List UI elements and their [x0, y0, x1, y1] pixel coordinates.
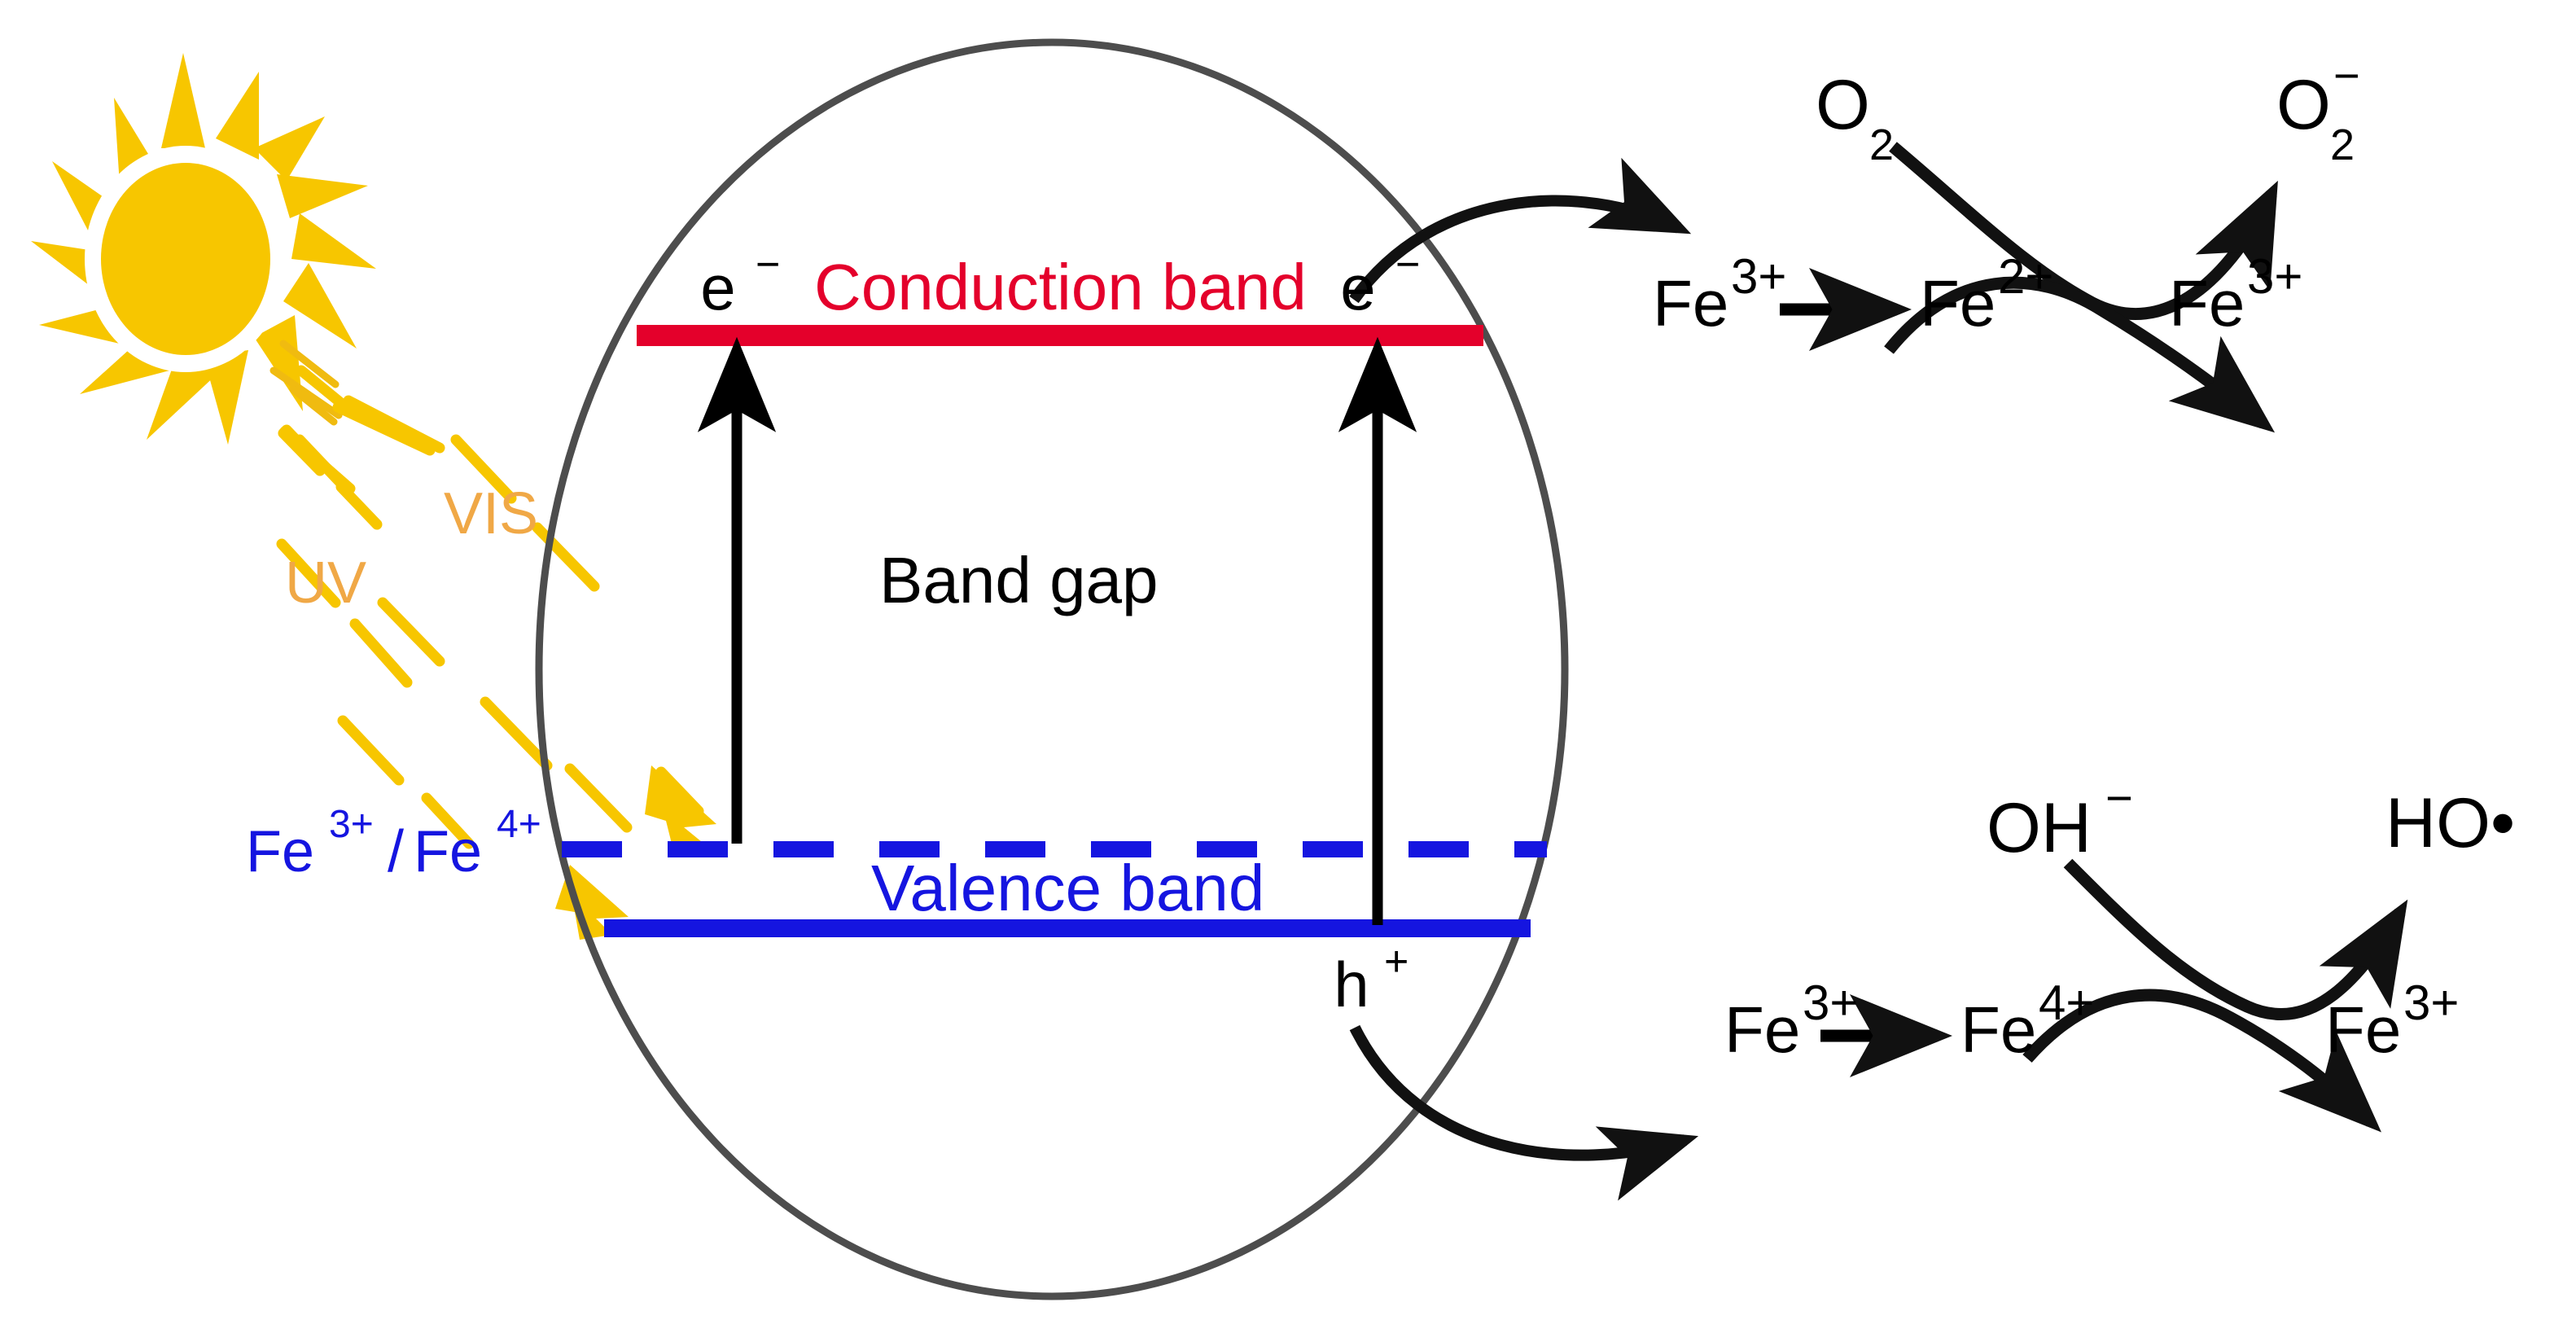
hydroxide-reactant-label: OH − [1987, 772, 2133, 867]
svg-text:O: O [1816, 66, 1870, 144]
svg-text:e: e [700, 252, 735, 323]
conduction-band-label: Conduction band [814, 251, 1307, 323]
svg-text:−: − [1395, 241, 1420, 288]
electron-label-left: e − [700, 241, 780, 323]
uv-ray-dashes [282, 430, 469, 844]
svg-text:−: − [756, 241, 780, 288]
svg-text:2: 2 [1869, 121, 1894, 169]
hole-label: h + [1334, 938, 1408, 1020]
svg-text:3+: 3+ [2247, 249, 2302, 304]
dopant-level-label: Fe 3+ / Fe 4+ [246, 803, 541, 884]
svg-text:Fe: Fe [246, 819, 314, 884]
electron-label-right: e − [1340, 241, 1420, 323]
svg-text:Fe: Fe [1724, 993, 1800, 1066]
fe2-label-top-mid: Fe 2+ [1920, 249, 2053, 340]
band-gap-label: Band gap [879, 544, 1159, 616]
diagram-canvas: UV VIS e − Conduction band e − Band gap … [0, 0, 2576, 1333]
svg-text:e: e [1340, 252, 1375, 323]
svg-text:Fe: Fe [2169, 267, 2245, 340]
svg-text:Fe: Fe [2325, 993, 2401, 1066]
valence-band-label: Valence band [871, 852, 1264, 924]
oh-to-crossing-arrow [2068, 863, 2400, 1015]
svg-text:h: h [1334, 949, 1369, 1020]
superoxide-product-label: O 2 − [2276, 50, 2360, 169]
svg-text:3+: 3+ [1803, 976, 1858, 1030]
svg-text:4+: 4+ [2039, 976, 2094, 1030]
hole-transfer-arrow [1355, 1028, 1685, 1155]
fe3-label-top-left: Fe 3+ [1653, 249, 1786, 340]
svg-text:4+: 4+ [497, 803, 541, 846]
svg-text:−: − [2333, 50, 2360, 101]
svg-text:2+: 2+ [1998, 249, 2053, 304]
vis-label: VIS [444, 481, 538, 546]
svg-text:3+: 3+ [1731, 249, 1786, 304]
svg-text:O: O [2276, 66, 2331, 144]
fe3-label-top-right: Fe 3+ [2169, 249, 2302, 340]
semiconductor-particle [539, 42, 1565, 1296]
svg-text:+: + [1384, 938, 1408, 985]
uv-label: UV [285, 550, 366, 616]
fe3-label-bottom-left: Fe 3+ [1724, 976, 1858, 1066]
svg-text:Fe: Fe [1920, 267, 1996, 340]
svg-text:Fe: Fe [1653, 267, 1728, 340]
svg-text:OH: OH [1987, 789, 2092, 867]
svg-text:3+: 3+ [329, 803, 374, 846]
o2-reactant-label: O 2 [1816, 66, 1894, 169]
svg-text:2: 2 [2330, 121, 2355, 169]
svg-text:3+: 3+ [2403, 976, 2459, 1030]
svg-text:−: − [2105, 772, 2133, 825]
svg-text:Fe: Fe [414, 819, 482, 884]
fe4-label-bottom-mid: Fe 4+ [1960, 976, 2094, 1066]
svg-text:/: / [388, 819, 404, 884]
hydroxyl-radical-label: HO• [2385, 784, 2515, 862]
svg-text:Fe: Fe [1960, 993, 2036, 1066]
